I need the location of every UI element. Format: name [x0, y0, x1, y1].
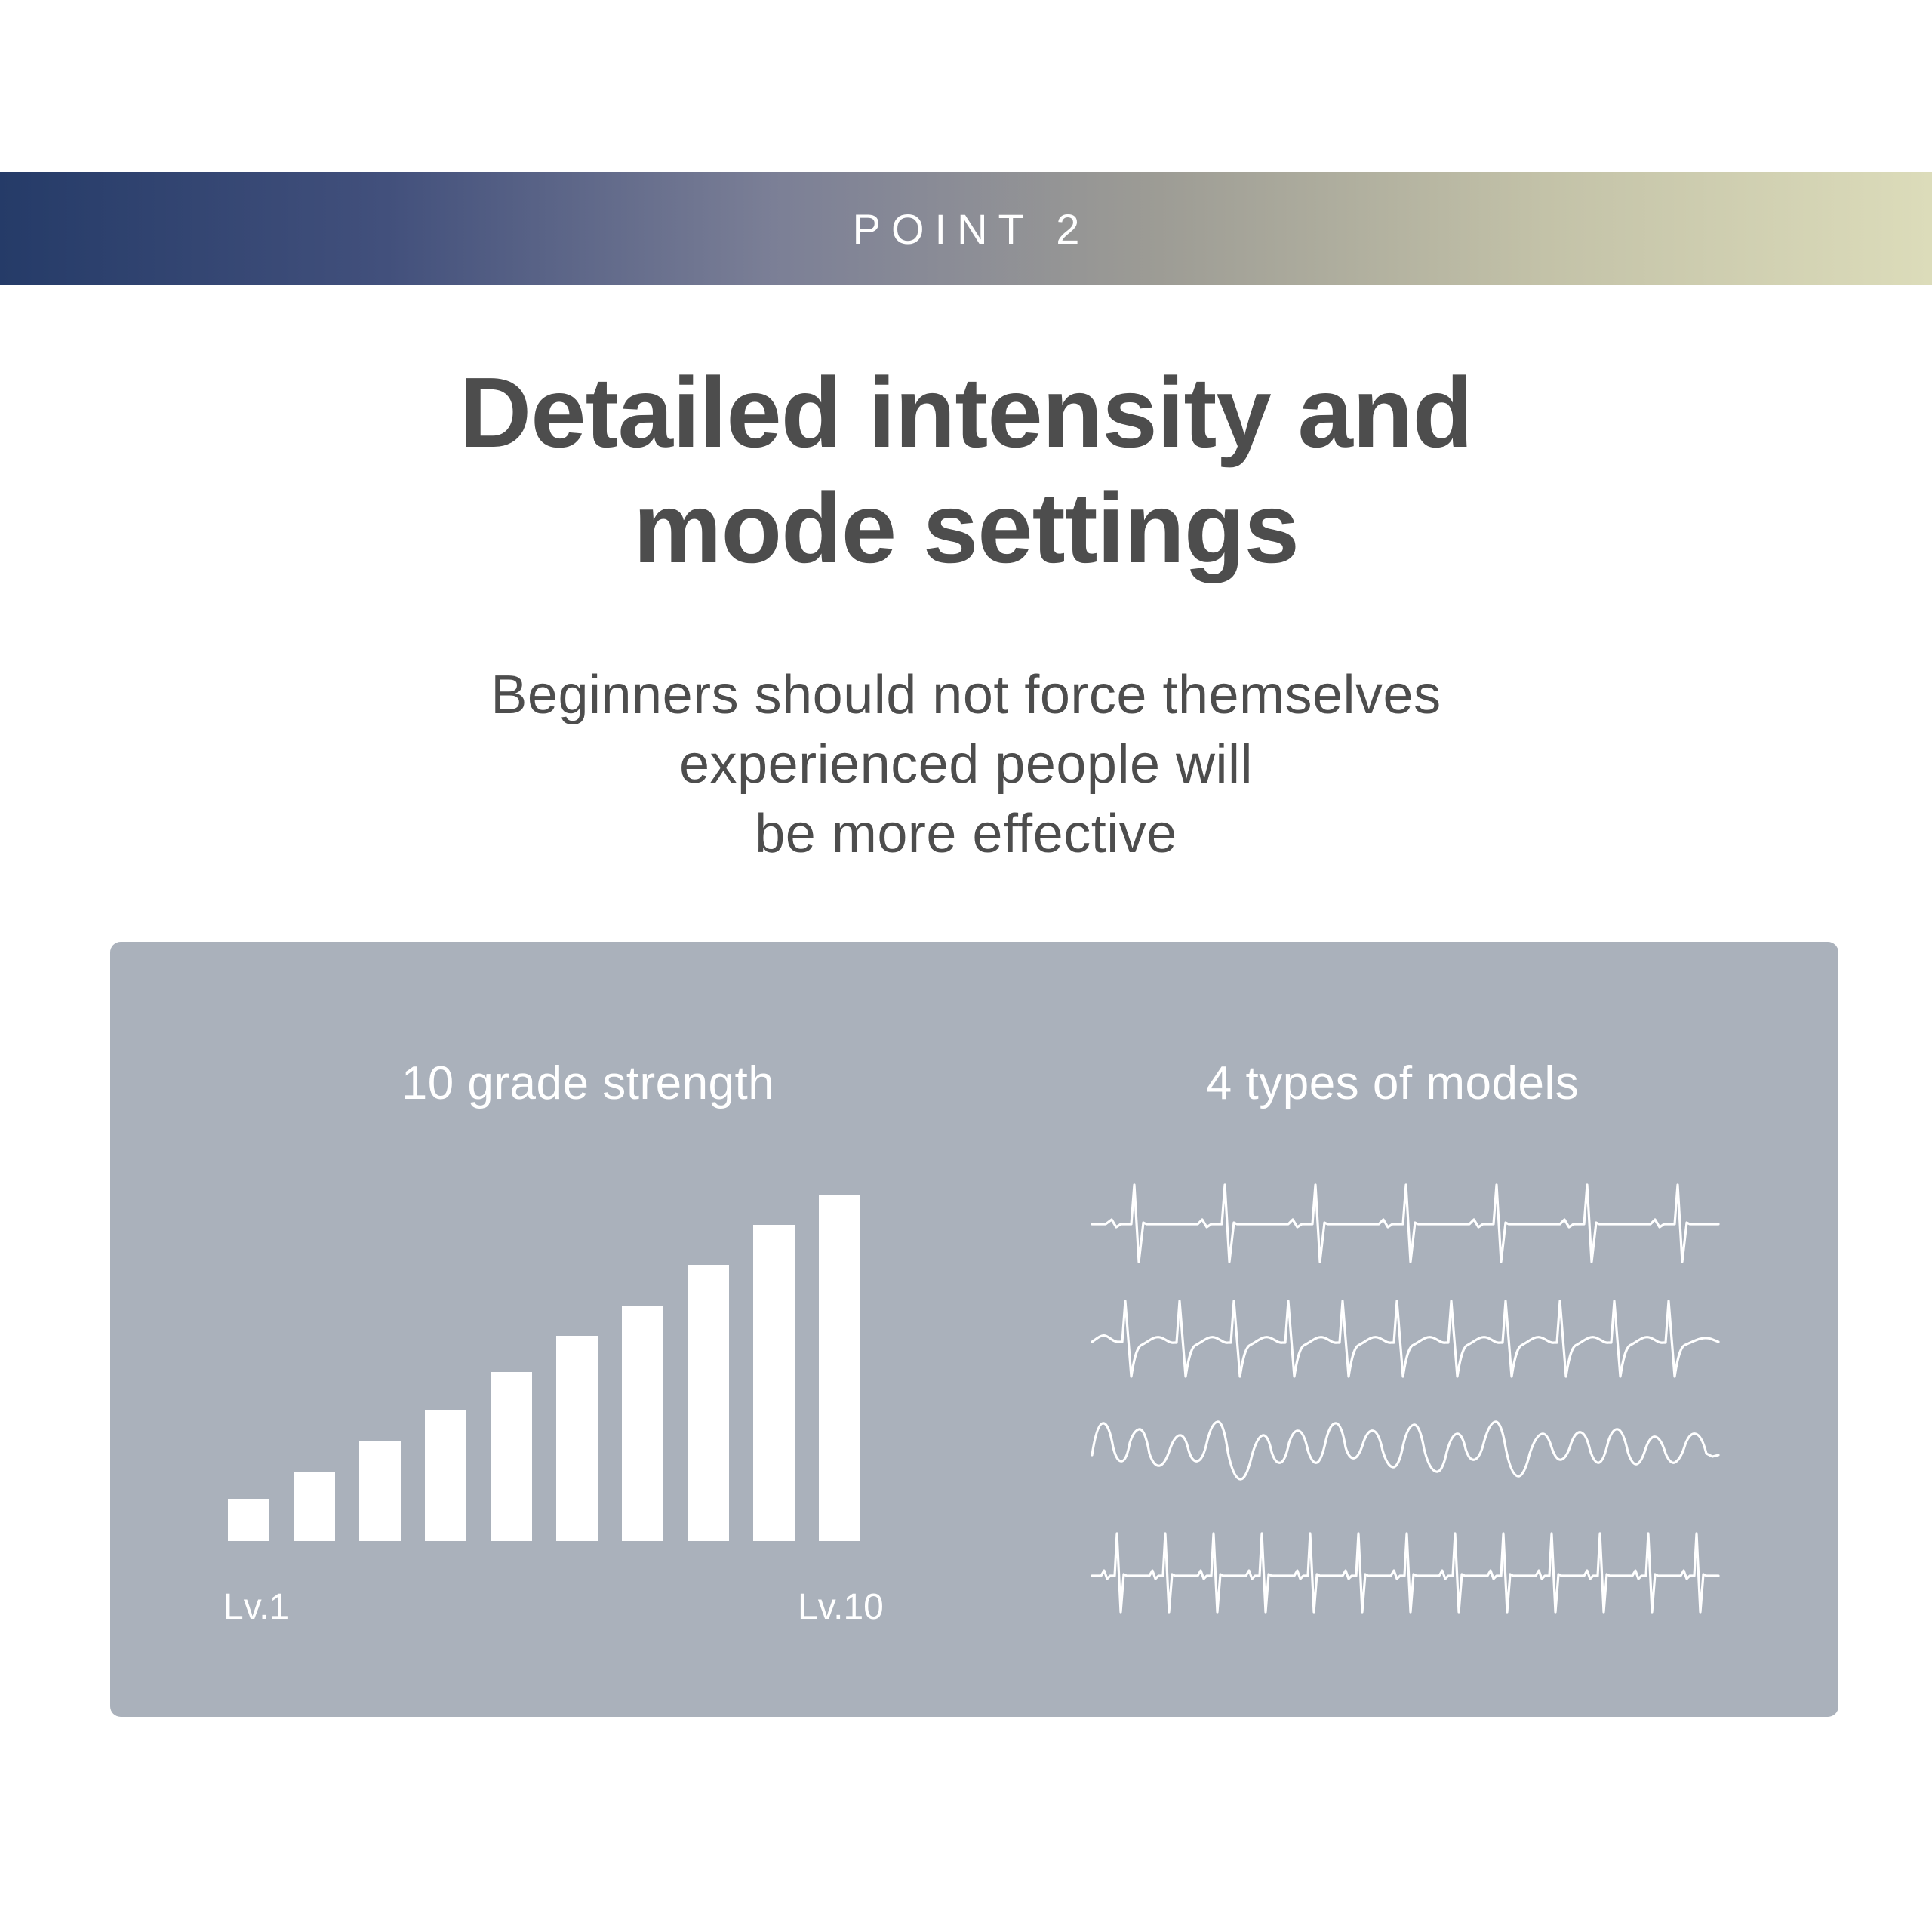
bar-lv3	[359, 1441, 401, 1541]
bar-lv4	[425, 1410, 466, 1541]
ecg-trace-3	[1092, 1422, 1718, 1479]
ecg-trace-1	[1092, 1185, 1718, 1262]
bar-lv2	[294, 1472, 335, 1541]
bar-lv6	[556, 1336, 598, 1541]
waveform-group	[1092, 1177, 1718, 1623]
waveform-tachycardia	[1092, 1526, 1718, 1624]
bar-lv9	[753, 1225, 795, 1541]
bar-lv8	[688, 1265, 729, 1541]
ecg-trace-4	[1092, 1534, 1718, 1612]
bar-lv7	[622, 1306, 663, 1541]
ecg-trace-2	[1092, 1301, 1718, 1377]
waveform-dense-rhythm	[1092, 1292, 1718, 1390]
axis-label-end: Lv.10	[798, 1586, 884, 1628]
bar-chart	[0, 0, 1932, 1932]
bar-lv10	[819, 1195, 860, 1541]
waveform-normal-sinus-rhythm	[1092, 1177, 1718, 1275]
waveform-irregular-fibrillation	[1092, 1410, 1718, 1508]
axis-label-start: Lv.1	[223, 1586, 289, 1628]
bar-lv5	[491, 1372, 532, 1541]
bar-lv1	[228, 1499, 269, 1541]
